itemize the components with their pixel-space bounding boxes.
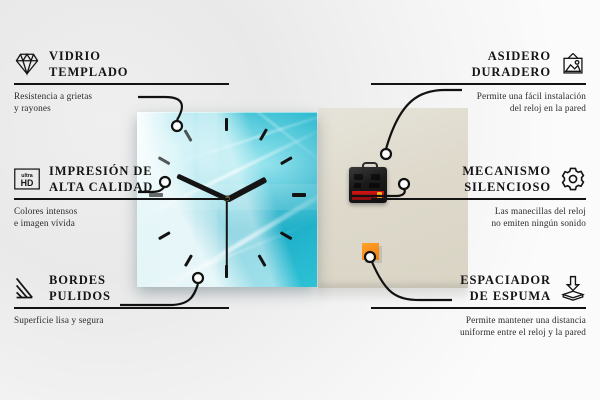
diamond-icon <box>14 51 40 77</box>
feature-impresion-alta-calidad: ultra HD IMPRESIÓN DE ALTA CALIDAD Color… <box>14 163 229 230</box>
feature-divider <box>14 307 229 309</box>
feature-title-line2: TEMPLADO <box>49 64 128 80</box>
svg-text:HD: HD <box>21 178 34 188</box>
ultra-hd-icon: ultra HD <box>14 166 40 192</box>
clock-tick <box>292 193 306 197</box>
clock-tick <box>225 118 228 131</box>
feature-description: Resistencia a grietas y rayones <box>14 90 229 115</box>
feature-divider <box>371 83 586 85</box>
mechanism-slot <box>354 183 361 188</box>
foam-spacer-icon <box>560 275 586 301</box>
feature-asidero-duradero: ASIDERO DURADERO Permite una fácil insta… <box>371 48 586 115</box>
feature-description: Superficie lisa y segura <box>14 314 229 327</box>
feature-title: MECANISMO SILENCIOSO <box>462 163 551 195</box>
feature-title-line1: ASIDERO <box>472 48 551 64</box>
foam-spacer-piece <box>362 243 379 260</box>
feature-description: Permite una fácil instalación del reloj … <box>371 90 586 115</box>
clock-tick <box>280 156 293 165</box>
mechanism-slot <box>354 174 363 180</box>
feature-mecanismo-silencioso: MECANISMO SILENCIOSO Las manecillas del … <box>371 163 586 230</box>
feature-divider <box>14 83 229 85</box>
feature-title-line1: ESPACIADOR <box>460 272 551 288</box>
feature-title: VIDRIO TEMPLADO <box>49 48 128 80</box>
feature-description: Permite mantener una distancia uniforme … <box>371 314 586 339</box>
picture-hanger-icon <box>560 51 586 77</box>
feature-divider <box>371 307 586 309</box>
feature-description: Las manecillas del reloj no emiten ningú… <box>371 205 586 230</box>
clock-tick <box>258 254 267 267</box>
feature-divider <box>14 198 229 200</box>
feature-title-line2: PULIDOS <box>49 288 111 304</box>
gear-icon <box>560 166 586 192</box>
feature-title: ESPACIADOR DE ESPUMA <box>460 272 551 304</box>
feature-bordes-pulidos: BORDES PULIDOS Superficie lisa y segura <box>14 272 229 326</box>
feature-divider <box>371 198 586 200</box>
feature-title-line1: IMPRESIÓN DE <box>49 163 153 179</box>
feature-title-line1: MECANISMO <box>462 163 551 179</box>
feature-title-line2: DE ESPUMA <box>460 288 551 304</box>
infographic-canvas: VIDRIO TEMPLADO Resistencia a grietas y … <box>0 0 600 400</box>
feature-title-line1: BORDES <box>49 272 111 288</box>
feature-title-line2: ALTA CALIDAD <box>49 179 153 195</box>
feature-description: Colores intensos e imagen vívida <box>14 205 229 230</box>
feature-vidrio-templado: VIDRIO TEMPLADO Resistencia a grietas y … <box>14 48 229 115</box>
feature-title: BORDES PULIDOS <box>49 272 111 304</box>
feature-title-line2: SILENCIOSO <box>462 179 551 195</box>
feature-title-line2: DURADERO <box>472 64 551 80</box>
feature-title-line1: VIDRIO <box>49 48 128 64</box>
polished-edges-icon <box>14 275 40 301</box>
feature-title: ASIDERO DURADERO <box>472 48 551 80</box>
feature-espaciador-espuma: ESPACIADOR DE ESPUMA Permite mantener un… <box>371 272 586 339</box>
feature-title: IMPRESIÓN DE ALTA CALIDAD <box>49 163 153 195</box>
